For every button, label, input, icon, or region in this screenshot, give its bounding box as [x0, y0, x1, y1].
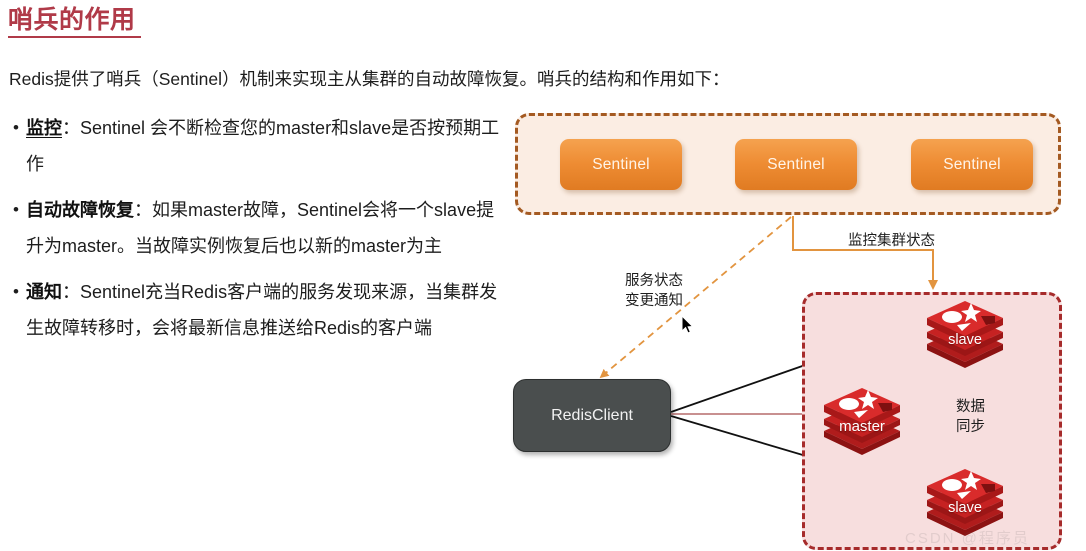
intro-paragraph: Redis提供了哨兵（Sentinel）机制来实现主从集群的自动故障恢复。哨兵的…	[9, 66, 659, 92]
redis-client-box[interactable]: RedisClient	[513, 379, 671, 452]
bullet-marker-icon: •	[6, 110, 26, 146]
label-data-sync: 数据 同步	[956, 398, 985, 437]
connector-replication-top	[898, 369, 965, 413]
bullet-term: 自动故障恢复	[26, 200, 134, 220]
connector-replication-bottom	[898, 420, 963, 459]
bullet-body: 通知：Sentinel充当Redis客户端的服务发现来源，当集群发生故障转移时，…	[26, 274, 506, 346]
list-item: • 监控：Sentinel 会不断检查您的master和slave是否按预期工作	[6, 110, 506, 182]
redis-node-slave-bottom[interactable]: slave	[923, 462, 1007, 538]
list-item: • 自动故障恢复：如果master故障，Sentinel会将一个slave提升为…	[6, 192, 506, 264]
redis-logo-icon	[923, 462, 1007, 538]
sentinel-node[interactable]: Sentinel	[560, 139, 682, 190]
bullet-body: 自动故障恢复：如果master故障，Sentinel会将一个slave提升为ma…	[26, 192, 506, 264]
bullet-marker-icon: •	[6, 274, 26, 310]
title-underline	[8, 36, 141, 38]
redis-cluster-container	[802, 292, 1062, 550]
redis-logo-icon	[923, 294, 1007, 370]
bullet-text: Sentinel充当Redis客户端的服务发现来源，当集群发生故障转移时，会将最…	[26, 282, 497, 338]
page-title: 哨兵的作用	[8, 4, 136, 37]
connector-client-to-slave-bottom	[671, 416, 928, 492]
bullet-term: 通知	[26, 282, 62, 302]
connector-monitor-cluster	[793, 216, 933, 288]
bullet-separator: ：	[134, 200, 152, 220]
connector-service-notify	[601, 217, 791, 377]
watermark: CSDN @程序员	[905, 527, 1075, 551]
redis-logo-icon	[820, 381, 904, 457]
label-monitor-cluster: 监控集群状态	[848, 232, 935, 252]
bullet-list: • 监控：Sentinel 会不断检查您的master和slave是否按预期工作…	[6, 110, 506, 356]
sentinel-group-container: Sentinel Sentinel Sentinel	[515, 113, 1061, 215]
bullet-body: 监控：Sentinel 会不断检查您的master和slave是否按预期工作	[26, 110, 506, 182]
bullet-marker-icon: •	[6, 192, 26, 228]
redis-node-label: slave	[923, 332, 1007, 348]
bullet-separator: ：	[62, 282, 80, 302]
bullet-term: 监控	[26, 118, 62, 138]
bullet-text: Sentinel 会不断检查您的master和slave是否按预期工作	[26, 118, 499, 174]
bullet-separator: ：	[62, 118, 80, 138]
list-item: • 通知：Sentinel充当Redis客户端的服务发现来源，当集群发生故障转移…	[6, 274, 506, 346]
connector-client-to-slave-top	[671, 322, 928, 412]
mouse-cursor-icon	[681, 315, 694, 334]
redis-node-label: slave	[923, 500, 1007, 516]
label-service-notify: 服务状态 变更通知	[625, 272, 683, 311]
sentinel-node[interactable]: Sentinel	[911, 139, 1033, 190]
redis-node-master[interactable]: master	[820, 381, 904, 457]
sentinel-node[interactable]: Sentinel	[735, 139, 857, 190]
redis-node-label: master	[820, 418, 904, 435]
redis-node-slave-top[interactable]: slave	[923, 294, 1007, 370]
